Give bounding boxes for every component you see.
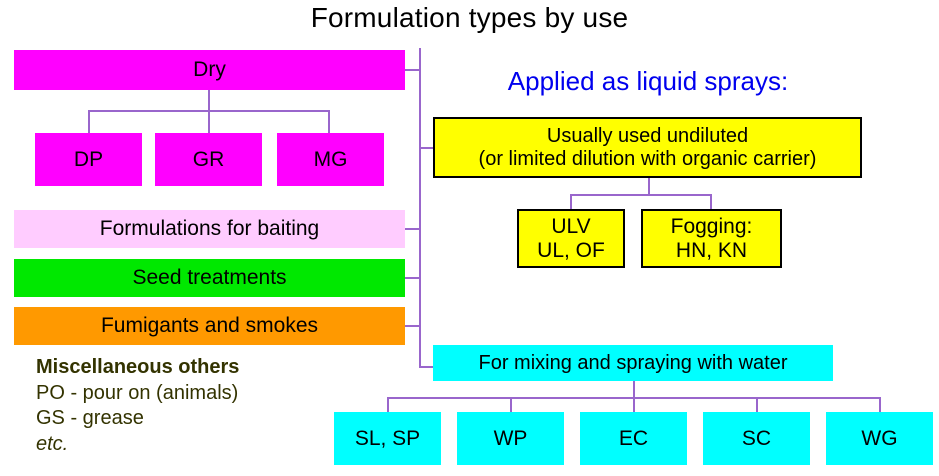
node-sl-sp[interactable]: SL, SP xyxy=(334,412,441,465)
node-gr-label: GR xyxy=(193,148,225,172)
node-water-mix[interactable]: For mixing and spraying with water xyxy=(433,345,833,381)
node-dry[interactable]: Dry xyxy=(14,50,405,90)
node-wg[interactable]: WG xyxy=(826,412,933,465)
node-undiluted-line2: (or limited dilution with organic carrie… xyxy=(479,148,817,170)
page-title: Formulation types by use xyxy=(0,2,939,34)
connector-spine-to-seed xyxy=(405,277,420,279)
node-dry-label: Dry xyxy=(193,58,226,82)
connector-water-mix-to-slsp xyxy=(387,397,389,412)
misc-others-line-gs: GS - grease xyxy=(36,406,239,432)
connector-spine-to-undiluted xyxy=(419,147,434,149)
node-fogging[interactable]: Fogging: HN, KN xyxy=(641,209,782,268)
node-ec[interactable]: EC xyxy=(580,412,687,465)
node-seed-treatments[interactable]: Seed treatments xyxy=(14,259,405,297)
node-baiting[interactable]: Formulations for baiting xyxy=(14,210,405,248)
diagram-canvas: Formulation types by use Dry DP GR MG Fo… xyxy=(0,0,939,476)
node-mg[interactable]: MG xyxy=(277,133,384,186)
connector-water-mix-to-ec xyxy=(633,397,635,412)
connector-spine-to-fumigants xyxy=(405,325,420,327)
node-gr[interactable]: GR xyxy=(155,133,262,186)
connector-spine xyxy=(419,48,421,368)
node-fumigants-label: Fumigants and smokes xyxy=(101,314,318,338)
connector-water-mix-stem xyxy=(633,381,635,398)
node-baiting-label: Formulations for baiting xyxy=(100,217,319,241)
section-heading-liquid-sprays: Applied as liquid sprays: xyxy=(433,66,863,97)
connector-undiluted-stem xyxy=(648,178,650,195)
connector-undiluted-to-fogging xyxy=(710,194,712,209)
node-ulv[interactable]: ULV UL, OF xyxy=(517,209,625,268)
node-undiluted[interactable]: Usually used undiluted (or limited dilut… xyxy=(433,117,862,178)
node-undiluted-line1: Usually used undiluted xyxy=(547,125,748,147)
node-mg-label: MG xyxy=(314,148,348,172)
connector-water-mix-to-sc xyxy=(756,397,758,412)
misc-others-etc: etc. xyxy=(36,432,239,458)
connector-spine-to-baiting xyxy=(405,228,420,230)
misc-others-line-po: PO - pour on (animals) xyxy=(36,381,239,407)
node-wp-label: WP xyxy=(494,427,528,451)
node-sl-sp-label: SL, SP xyxy=(355,427,420,451)
node-ec-label: EC xyxy=(619,427,648,451)
connector-spine-to-water-mix xyxy=(419,366,434,368)
node-wg-label: WG xyxy=(861,427,897,451)
connector-dry-to-dp xyxy=(88,110,90,134)
node-sc-label: SC xyxy=(742,427,771,451)
node-dp[interactable]: DP xyxy=(35,133,142,186)
node-fumigants[interactable]: Fumigants and smokes xyxy=(14,307,405,345)
misc-others-block: Miscellaneous others PO - pour on (anima… xyxy=(36,355,239,457)
node-ulv-line2: UL, OF xyxy=(537,239,605,263)
node-sc[interactable]: SC xyxy=(703,412,810,465)
connector-spine-to-dry xyxy=(405,69,420,71)
node-water-mix-label: For mixing and spraying with water xyxy=(478,352,787,374)
misc-others-title: Miscellaneous others xyxy=(36,355,239,381)
node-dp-label: DP xyxy=(74,148,103,172)
connector-dry-to-mg xyxy=(328,110,330,134)
connector-undiluted-to-ulv xyxy=(570,194,572,209)
connector-water-mix-to-wg xyxy=(879,397,881,412)
node-seed-treatments-label: Seed treatments xyxy=(132,266,286,290)
node-wp[interactable]: WP xyxy=(457,412,564,465)
connector-undiluted-bus xyxy=(570,194,712,196)
connector-dry-to-gr xyxy=(208,110,210,134)
node-ulv-line1: ULV xyxy=(551,215,590,239)
node-fogging-line2: HN, KN xyxy=(676,239,747,263)
node-fogging-line1: Fogging: xyxy=(671,215,753,239)
connector-water-mix-to-wp xyxy=(510,397,512,412)
connector-dry-stem xyxy=(208,90,210,111)
